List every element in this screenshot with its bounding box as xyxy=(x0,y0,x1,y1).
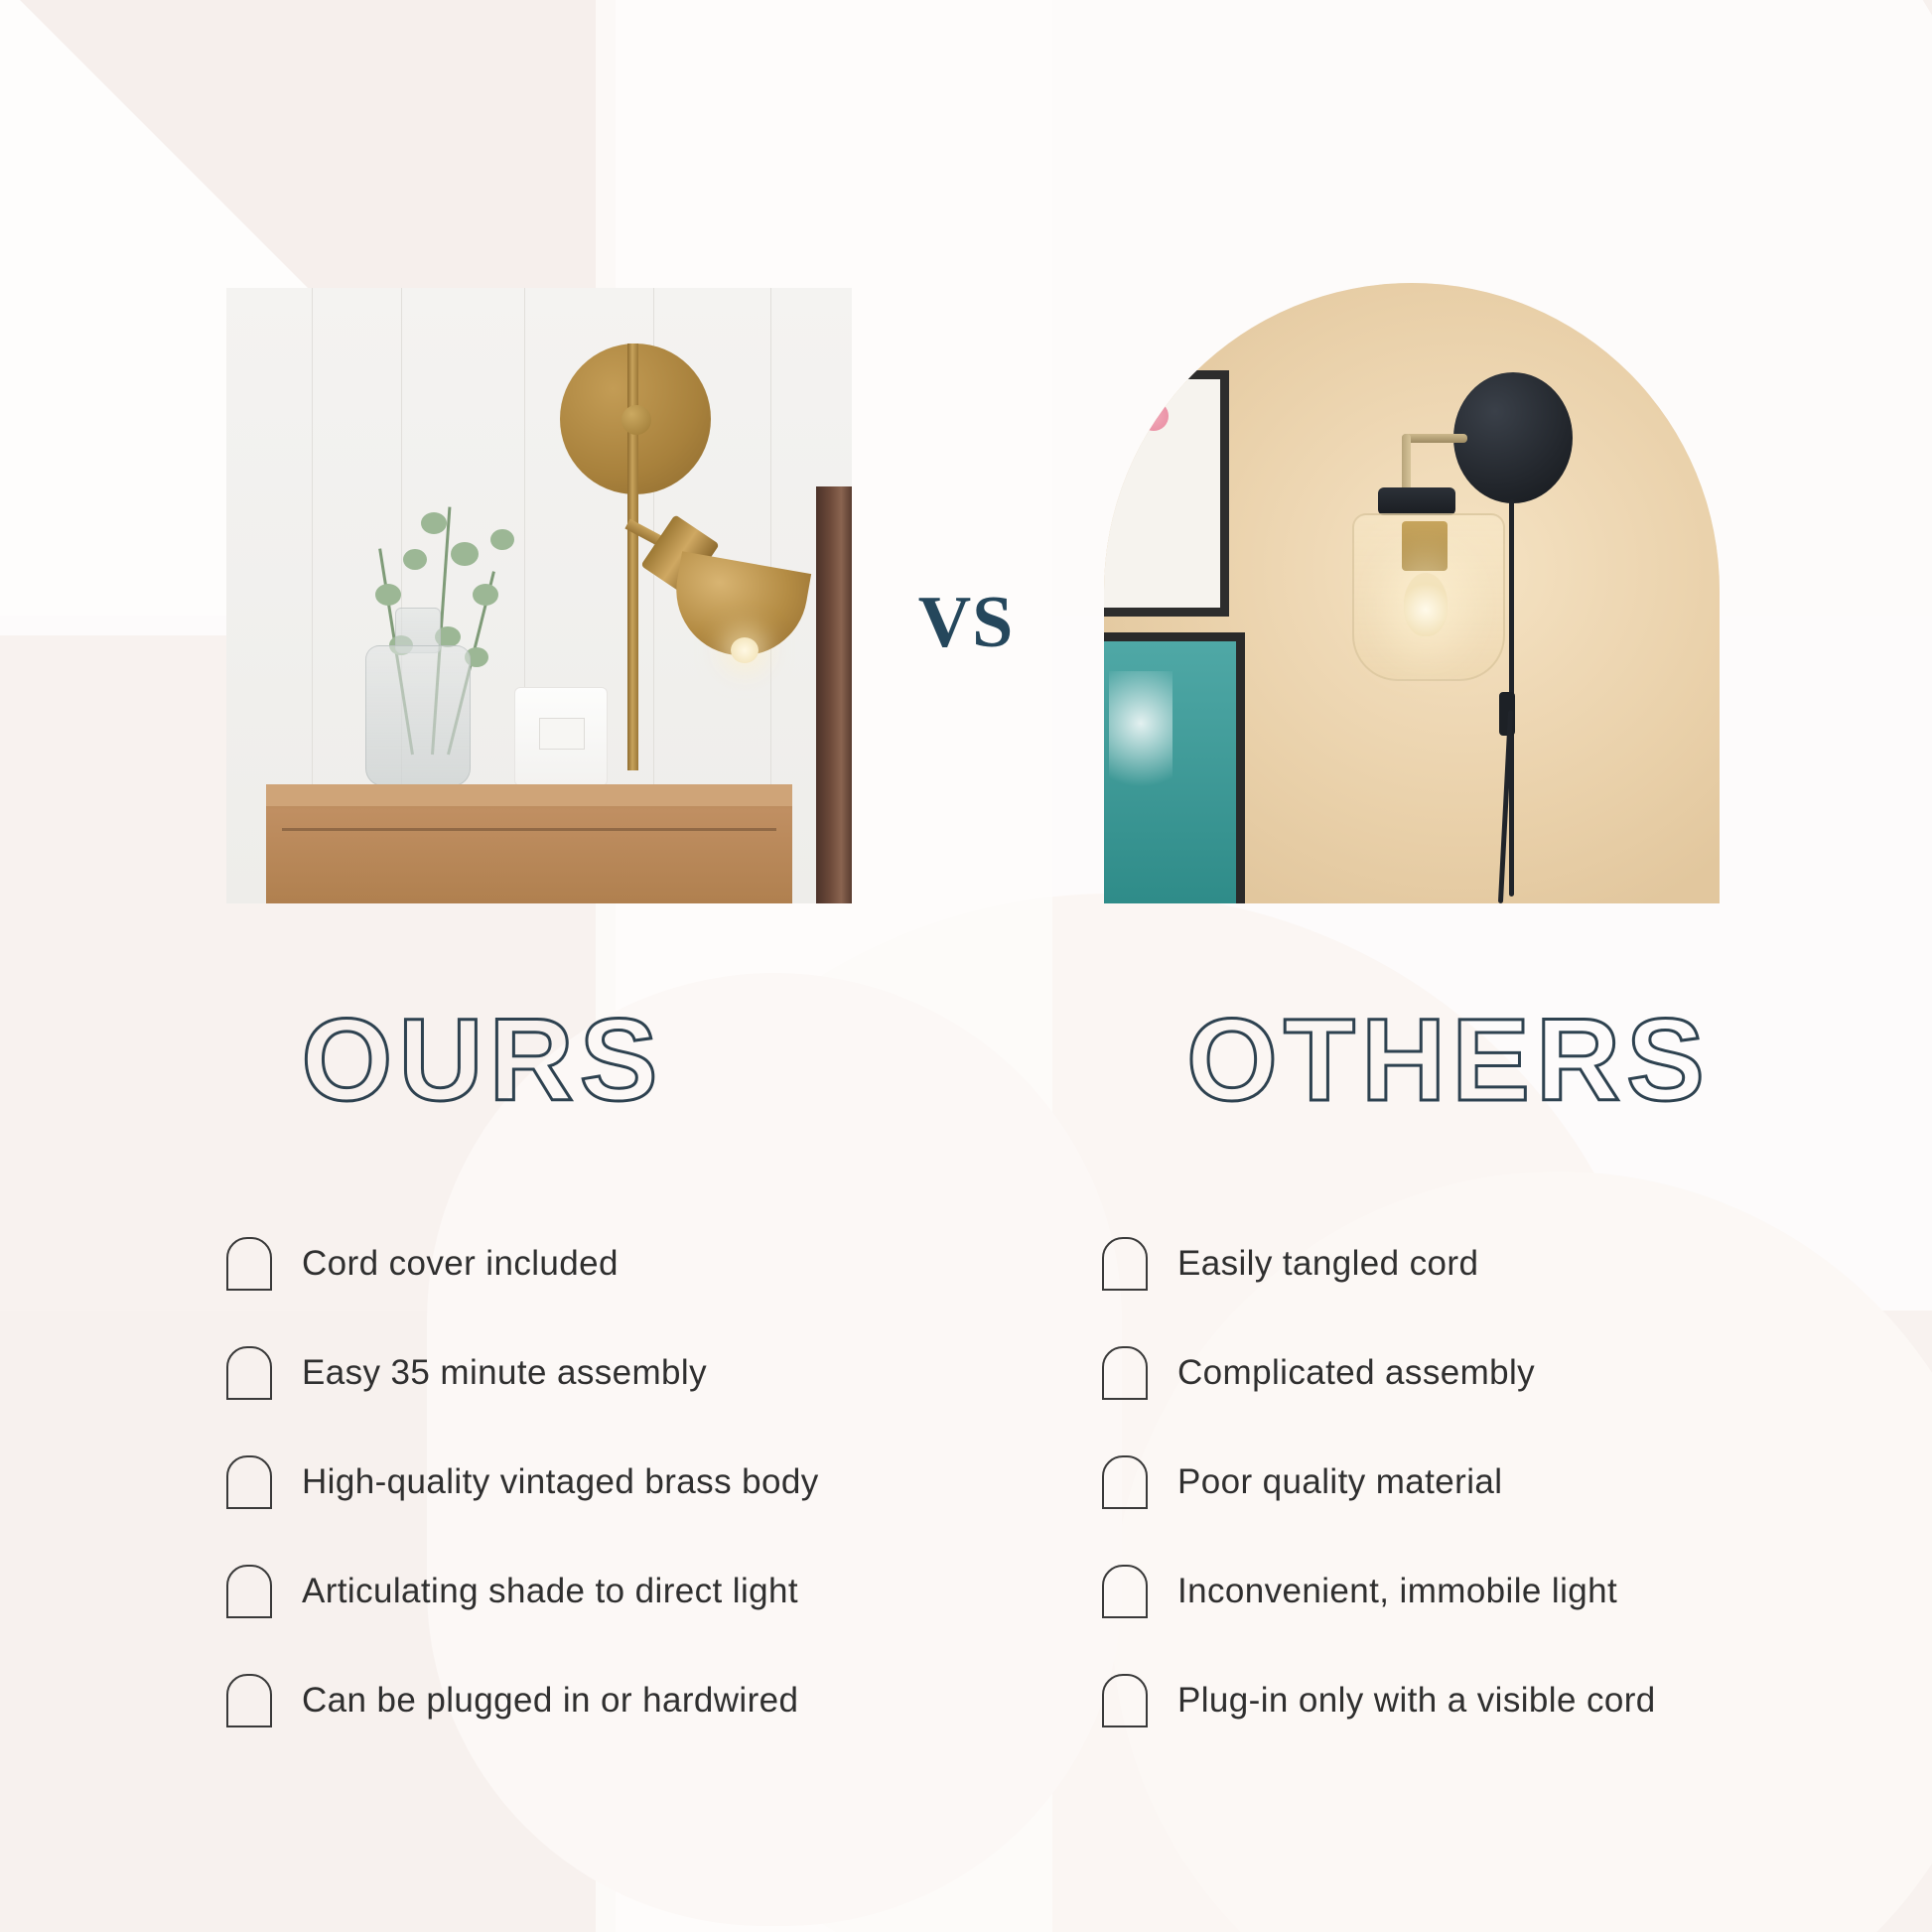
eucalyptus-leaf xyxy=(490,529,514,550)
column-headings: OURS OTHERS xyxy=(0,993,1932,1142)
others-feature-list: Easily tangled cord Complicated assembly… xyxy=(1102,1209,1857,1755)
light-bulb-glow xyxy=(731,637,759,663)
feature-label: High-quality vintaged brass body xyxy=(302,1462,819,1502)
eucalyptus-leaf xyxy=(473,584,498,606)
book-spine xyxy=(816,486,852,903)
versus-label: VS xyxy=(874,581,1058,665)
list-item: High-quality vintaged brass body xyxy=(226,1428,941,1537)
heading-ours: OURS xyxy=(0,993,965,1128)
list-item: Can be plugged in or hardwired xyxy=(226,1646,941,1755)
others-product-image xyxy=(1104,283,1720,903)
arch-bullet-icon xyxy=(226,1237,272,1291)
ours-product-image xyxy=(226,288,852,903)
arch-bullet-icon xyxy=(226,1346,272,1400)
arch-bullet-icon xyxy=(1102,1237,1148,1291)
feature-label: Easily tangled cord xyxy=(1177,1244,1478,1284)
arch-bullet-icon xyxy=(1102,1346,1148,1400)
eucalyptus-leaf xyxy=(451,542,479,566)
arch-bullet-icon xyxy=(1102,1565,1148,1618)
candle-label xyxy=(539,718,585,750)
feature-label: Cord cover included xyxy=(302,1244,619,1284)
feature-label: Plug-in only with a visible cord xyxy=(1177,1681,1656,1721)
heading-others: OTHERS xyxy=(965,993,1932,1128)
arch-bullet-icon xyxy=(1102,1674,1148,1727)
feature-label: Can be plugged in or hardwired xyxy=(302,1681,798,1721)
ours-feature-list: Cord cover included Easy 35 minute assem… xyxy=(226,1209,941,1755)
list-item: Articulating shade to direct light xyxy=(226,1537,941,1646)
feature-label: Articulating shade to direct light xyxy=(302,1572,798,1611)
brass-knob xyxy=(621,405,651,435)
feature-label: Inconvenient, immobile light xyxy=(1177,1572,1617,1611)
arch-bullet-icon xyxy=(1102,1455,1148,1509)
list-item: Complicated assembly xyxy=(1102,1318,1857,1428)
arch-bullet-icon xyxy=(226,1455,272,1509)
dresser-top-surface xyxy=(266,784,792,806)
light-bulb-glow xyxy=(1404,573,1448,636)
list-item: Easy 35 minute assembly xyxy=(226,1318,941,1428)
white-candle xyxy=(514,687,608,786)
eucalyptus-leaf xyxy=(403,549,427,570)
framed-art-flower xyxy=(1104,370,1229,617)
feature-label: Complicated assembly xyxy=(1177,1353,1535,1393)
eucalyptus-leaf xyxy=(375,584,401,606)
framed-art-tree xyxy=(1104,632,1245,903)
eucalyptus-leaf xyxy=(421,512,447,534)
comparison-infographic: VS OURS OTHERS Cord cover included Easy … xyxy=(0,0,1932,1932)
list-item: Inconvenient, immobile light xyxy=(1102,1537,1857,1646)
wooden-dresser xyxy=(266,784,792,903)
dresser-drawer-line xyxy=(282,828,776,831)
list-item: Poor quality material xyxy=(1102,1428,1857,1537)
sconce-arm xyxy=(1402,434,1467,443)
arch-bullet-icon xyxy=(226,1674,272,1727)
brass-socket xyxy=(1402,521,1448,571)
glass-vase xyxy=(365,645,471,786)
arch-bullet-icon xyxy=(226,1565,272,1618)
feature-label: Poor quality material xyxy=(1177,1462,1502,1502)
tree-artwork xyxy=(1109,671,1173,820)
shade-cap xyxy=(1378,487,1455,515)
flower-artwork xyxy=(1139,401,1169,431)
list-item: Cord cover included xyxy=(226,1209,941,1318)
list-item: Plug-in only with a visible cord xyxy=(1102,1646,1857,1755)
feature-label: Easy 35 minute assembly xyxy=(302,1353,707,1393)
sconce-arm-drop xyxy=(1402,434,1411,491)
black-backplate xyxy=(1453,372,1573,503)
list-item: Easily tangled cord xyxy=(1102,1209,1857,1318)
